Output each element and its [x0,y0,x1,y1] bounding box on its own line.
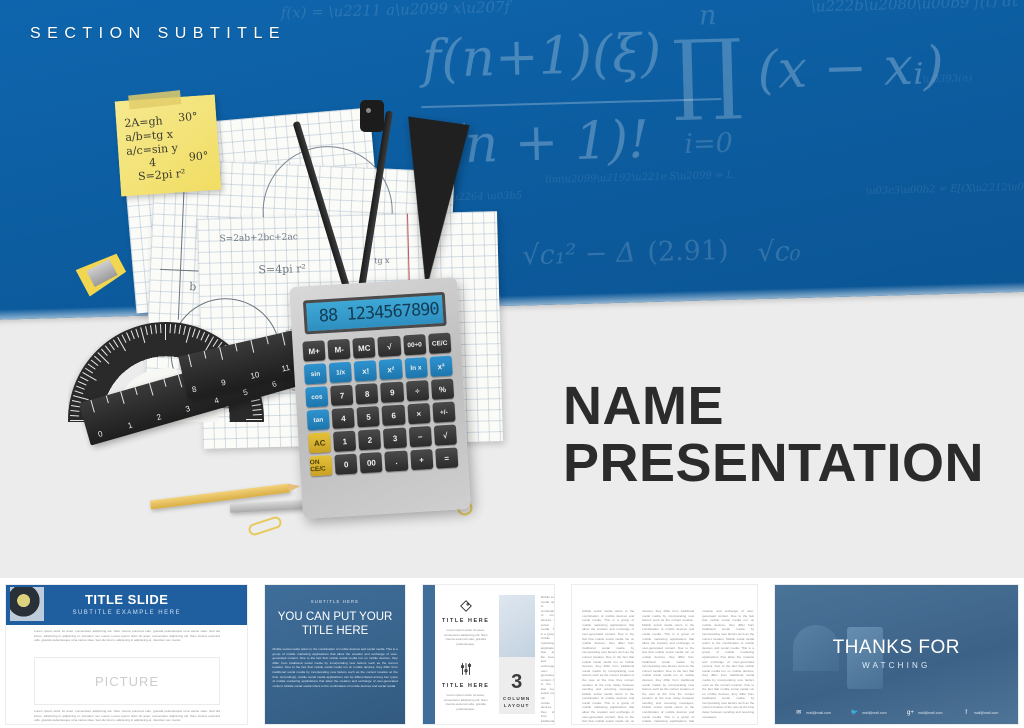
blue-header-panel: f(n+1)(ξ) (n + 1)! n ∏ i=0 (x − xᵢ) √c₁²… [0,0,1024,320]
calculator-key-mc: MC [353,337,376,358]
calculator-key-1: 1 [333,431,356,452]
calculator-keypad: M+M-MC√00÷0CE/Csin1/xx!x²ln xx³cos789÷%t… [302,333,458,477]
calculator-key-x: x² [379,359,402,380]
protractor-tick [179,325,181,334]
protractor-tick [91,360,99,366]
protractor-tick [233,359,241,365]
product-body: (x − xᵢ) [757,36,945,101]
protractor-tick [170,324,171,333]
protractor-tick [235,371,249,380]
calculator-key-: √ [378,336,401,357]
calculator-key-cos: cos [305,386,328,407]
paperclip-white [438,454,473,502]
calculator: 88 1234567890 M+M-MC√00÷0CE/Csin1/xx!x²l… [289,277,471,519]
fraction-bar [421,98,721,108]
calculator-key-00-0: 00÷0 [403,334,426,355]
calculator-key-: % [431,379,454,400]
thumb3-col2-heading: TITLE HERE [441,683,491,689]
thumb3-number-label-2: LAYOUT [499,702,535,709]
calculator-key-on-ce-c: ON CE/C [309,455,332,476]
protractor-tick [126,332,131,341]
protractor-tick [252,409,261,411]
protractor-tick [216,342,222,350]
protractor-tick [238,367,246,373]
protractor-tick [160,324,161,333]
protractor-tick [245,380,254,385]
paperclip-yellow [247,515,283,537]
thumb3-center-image [499,595,535,657]
contact-text: mail@mail.com [862,711,887,715]
thumb2-title: YOU CAN PUT YOUR TITLE HERE [273,610,396,638]
protractor-tick [222,351,234,363]
calculator-key-m: M- [328,339,351,360]
thumbnail-title-slide[interactable]: TITLE SLIDE SUBTITLE EXAMPLE HERE Lorem … [0,578,253,728]
calculator-key-m: M+ [302,340,325,361]
protractor-tick [251,399,260,402]
thumb3-col1-heading: TITLE HERE [441,618,491,624]
main-slide: f(n+1)(ξ) (n + 1)! n ∏ i=0 (x − xᵢ) √c₁²… [0,0,1024,578]
thumb1-header: TITLE SLIDE SUBTITLE EXAMPLE HERE [6,585,247,625]
protractor-tick [192,328,196,337]
product-symbol: ∏ [671,19,744,124]
thumb2-body: Mobile social media refers to the combin… [272,647,397,688]
calculator-key-tan: tan [307,409,330,430]
thumb3-col1-body: Lorem ipsum dolor sit amet, consectetur … [441,628,491,646]
protractor-tick [135,329,139,338]
contact-text: mail@mail.com [974,711,999,715]
protractor-tick [223,348,230,355]
protractor-tick [248,389,257,393]
calculator-key-: +/- [432,401,455,422]
formula-numerator: f(n+1)(ξ) [421,24,662,90]
protractor-tick [72,400,81,403]
thumbnail-three-column-text[interactable]: Mobile social media refers to the combin… [566,578,762,728]
thumb1-body-top: Lorem ipsum dolor sit amet, consectetur … [34,629,220,643]
calculator-key-: × [407,403,430,424]
protractor-tick [155,325,157,334]
protractor-tick [105,345,111,353]
calculator-key-8: 8 [355,383,378,404]
protractor-tick [131,330,135,339]
contact-item[interactable]: g+mail@mail.com [906,709,943,716]
thumb2-subtitle: SUBTITLE HERE [265,599,404,604]
protractor-tick [213,339,219,347]
protractor-tick [150,325,152,334]
protractor-tick [82,372,96,381]
calculator-key-x: x³ [429,356,452,377]
protractor-tick [140,327,145,343]
calculator-key-4: 4 [332,408,355,429]
pencil-yellow [150,484,290,510]
thumb3-number: 3 [499,671,535,694]
protractor-tick [186,327,191,343]
protractor-tick [205,336,214,350]
protractor-tick [70,415,79,416]
protractor-tick [73,395,89,400]
thumb3-left-bar [423,585,435,724]
calculator-key-sin: sin [304,363,327,384]
protractor-tick [196,330,200,339]
formula-faint-4: \u03c3\u00b2 = E[(X\u2212\u03bc)\u00b2] [866,180,1024,197]
thumb1-title: TITLE SLIDE [6,592,247,607]
protractor-tick [70,410,79,412]
protractor-tick [253,414,262,415]
protractor-tick [74,390,83,394]
protractor-tick [205,334,210,342]
protractor-tick [165,324,166,340]
protractor-tick [247,385,256,389]
thumb4-column-2: devices, they differ from traditional so… [642,609,694,714]
pencil-gray [230,496,380,513]
thumb4-column-3: creation and exchange of user-generated … [702,609,754,714]
formula-faint-5: d(u,v) \u2264 \u03b5 [416,190,523,204]
protractor-tick [85,368,93,374]
protractor-tick [80,376,88,381]
calculator-key-x: x! [354,360,377,381]
formula-faint-6: \u0393(n) [923,73,973,85]
ruler: 0 1 2 3 4 5 6 7 [79,334,331,445]
thumb1-picture-placeholder: PICTURE [34,657,220,705]
thumb4-column-1: Mobile social media refers to the combin… [582,609,634,714]
calculator-key-6: 6 [382,405,405,426]
calculator-key-ln-x: ln x [404,357,427,378]
calculator-key-ce-c: CE/C [428,333,451,354]
ruler-extension: 8 9 10 11 12 13 14 15 [178,300,431,399]
google-plus-icon: g+ [906,709,915,716]
protractor-tick [122,334,127,342]
thumb3-center-panel: 3 COLUMN LAYOUT [499,595,535,714]
tag-icon [441,599,491,618]
protractor-tick [243,376,251,381]
formula-radical-2: √c₀ [757,236,801,268]
protractor-tick [78,381,87,386]
contact-item[interactable]: fmail@mail.com [962,709,999,716]
contact-item[interactable]: ✉mail@mail.com [794,709,831,716]
formula-reference: (2.91) [647,235,729,268]
title-line-1: NAME [563,378,984,435]
protractor-tick [97,352,109,364]
protractor-tick [174,324,176,333]
formula-radical-1: √c₁² − Δ [522,237,636,271]
calculator-key-: = [435,447,458,468]
envelope-icon: ✉ [794,709,803,716]
calculator-key-1-x: 1/x [329,362,352,383]
thumb1-body-bottom: Lorem ipsum dolor sit amet, consectetur … [34,709,220,723]
thumbnail-thanks-slide[interactable]: THANKS FOR WATCHING ✉mail@mail.com🐦mail@… [769,578,1024,728]
thumbnail-strip: TITLE SLIDE SUBTITLE EXAMPLE HERE Lorem … [0,578,1024,728]
protractor-tick [183,326,186,335]
protractor-tick [70,420,86,421]
thumbnail-three-column-layout[interactable]: TITLE HERE Lorem ipsum dolor sit amet, c… [417,578,560,728]
product-lower-limit: i=0 [684,128,733,160]
page-title: NAME PRESENTATION [563,378,984,492]
protractor [68,322,264,422]
twitter-icon: 🐦 [850,709,859,716]
calculator-key-9: 9 [381,382,404,403]
protractor-tick [230,355,237,362]
protractor-tick [220,345,226,353]
thumb3-column-1: TITLE HERE Lorem ipsum dolor sit amet, c… [441,595,491,714]
protractor-tick [88,364,96,370]
thumb3-col2-body: Lorem ipsum dolor sit amet, consectetur … [441,693,491,711]
thumb3-number-label-1: COLUMN [499,695,535,702]
protractor-tick [243,394,259,399]
protractor-tick [101,349,108,356]
contact-item[interactable]: 🐦mail@mail.com [850,709,887,716]
thumb1-subtitle: SUBTITLE EXAMPLE HERE [6,610,247,616]
calculator-key-2: 2 [358,429,381,450]
product-upper-limit: n [699,0,717,31]
calculator-key-: − [408,426,431,447]
contact-text: mail@mail.com [806,711,831,715]
title-line-2: PRESENTATION [563,435,984,492]
thumbnail-title-text-slide[interactable]: SUBTITLE HERE YOU CAN PUT YOUR TITLE HER… [259,578,410,728]
calculator-key-: . [385,450,408,471]
protractor-tick [252,404,261,406]
protractor-tick [200,332,205,341]
thumb3-right-body: Mobile social media refers to the combin… [541,595,554,714]
protractor-tick [94,356,101,363]
calculator-key-3: 3 [383,427,406,448]
formula-denominator: (n + 1)! [444,110,650,176]
protractor-tick [113,339,119,347]
protractor-tick [236,363,244,369]
calculator-key-: + [410,449,433,470]
sliders-icon [441,662,491,681]
thumb5-contacts: ✉mail@mail.com🐦mail@mail.comg+mail@mail.… [785,709,1008,716]
protractor-tick [76,386,85,390]
thumb5-subtitle: WATCHING [775,661,1018,670]
protractor-tick [117,337,126,351]
section-subtitle: SECTION SUBTITLE [30,25,286,43]
protractor-tick [71,405,80,407]
protractor-tick [145,326,148,335]
protractor-tick [109,342,115,350]
paperclip-yellow-2 [443,469,474,517]
calculator-key-00: 00 [360,452,383,473]
calculator-key-: ÷ [406,380,429,401]
calculator-key-0: 0 [335,454,358,475]
calculator-key-5: 5 [357,406,380,427]
protractor-tick [246,419,262,420]
formula-faint-2: \u222b\u2080\u00b9 f(t) dt [811,0,1019,16]
math-formula-background: f(n+1)(ξ) (n + 1)! n ∏ i=0 (x − xᵢ) √c₁²… [0,0,1024,320]
protractor-label: sin x [128,388,154,401]
thumb5-title: THANKS FOR [775,637,1018,659]
calculator-key-: √ [434,424,457,445]
calculator-key-ac: AC [308,432,331,453]
formula-faint-3: lim\u2099\u2192\u221e S\u2099 = L [545,170,733,186]
calculator-key-7: 7 [330,385,353,406]
contact-text: mail@mail.com [918,711,943,715]
facebook-icon: f [962,709,971,716]
formula-faint-1: f(x) = \u2211 a\u2099 x\u207f [280,0,510,22]
